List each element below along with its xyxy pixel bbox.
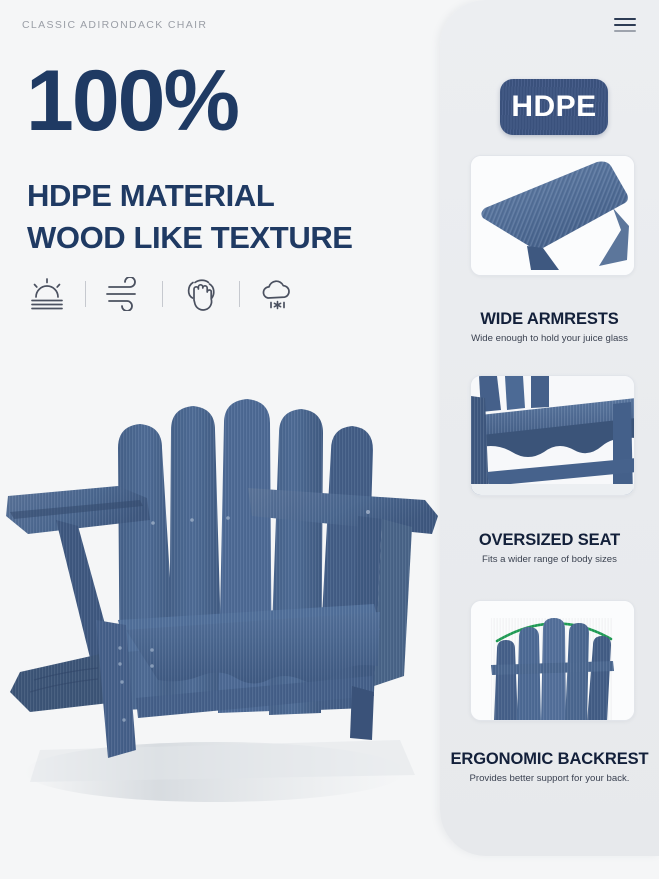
feature-title: OVERSIZED SEAT xyxy=(440,531,659,550)
product-infographic: CLASSIC ADIRONDACK CHAIR 100% HDPE MATER… xyxy=(0,0,659,879)
hamburger-line-1 xyxy=(614,18,636,20)
product-image xyxy=(0,320,440,879)
icon-divider xyxy=(239,281,240,307)
armrest-closeup-image xyxy=(470,155,635,276)
hamburger-icon[interactable] xyxy=(614,18,636,32)
hamburger-line-3 xyxy=(614,30,636,32)
hdpe-badge-label: HDPE xyxy=(511,90,596,124)
wind-icon xyxy=(95,272,153,316)
feature-subtitle: Wide enough to hold your juice glass xyxy=(440,333,659,344)
hamburger-line-2 xyxy=(614,24,636,26)
backrest-closeup-image xyxy=(470,600,635,721)
icon-divider xyxy=(85,281,86,307)
feature-title: ERGONOMIC BACKREST xyxy=(440,750,659,769)
hero-column: CLASSIC ADIRONDACK CHAIR 100% HDPE MATER… xyxy=(0,0,440,879)
feature-subtitle: Provides better support for your back. xyxy=(440,773,659,784)
easy-clean-icon xyxy=(172,272,230,316)
icon-divider xyxy=(162,281,163,307)
sun-uv-icon xyxy=(18,272,76,316)
feature-title: WIDE ARMRESTS xyxy=(440,310,659,329)
hero-subtitle-line-2: WOOD LIKE TEXTURE xyxy=(27,219,353,256)
hdpe-badge: HDPE xyxy=(500,79,608,135)
eyebrow-label: CLASSIC ADIRONDACK CHAIR xyxy=(22,19,207,31)
hero-stat: 100% xyxy=(26,58,238,144)
benefit-icon-strip xyxy=(18,272,318,316)
snow-cloud-icon xyxy=(249,272,307,316)
seat-closeup-image xyxy=(470,375,635,496)
feature-sidebar: HDPE xyxy=(440,0,659,856)
hero-subtitle-line-1: HDPE MATERIAL xyxy=(27,177,274,214)
feature-subtitle: Fits a wider range of body sizes xyxy=(440,554,659,565)
